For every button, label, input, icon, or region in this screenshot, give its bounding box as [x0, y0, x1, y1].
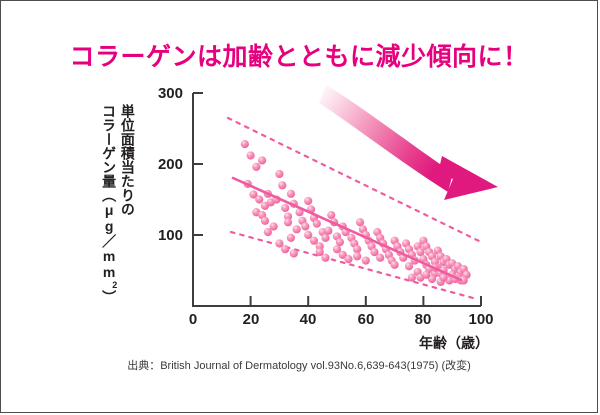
x-tick-40: 40 [285, 312, 331, 327]
scatter-chart [1, 1, 598, 413]
y-axis-label-line2-tail: ） [101, 290, 117, 304]
infographic-frame: コラーゲンは加齢とともに減少傾向に！ [0, 0, 598, 413]
x-tick-0: 0 [170, 312, 216, 327]
x-tick-80: 80 [400, 312, 446, 327]
y-axis-label-line2-text: コラーゲン量（μg／mm [101, 104, 117, 280]
source-citation: 出典：British Journal of Dermatology vol.93… [1, 357, 597, 373]
y-axis-label-line2: コラーゲン量（μg／mm2） [101, 104, 119, 304]
downward-trend-arrow [319, 85, 498, 200]
y-axis-label-superscript: 2 [110, 280, 120, 290]
y-axis-label-line1: 単位面積当たりの [120, 104, 135, 216]
y-tick-300: 300 [123, 86, 183, 101]
x-axis-label: 年齢（歳） [419, 333, 489, 353]
x-tick-20: 20 [228, 312, 274, 327]
x-tick-60: 60 [343, 312, 389, 327]
x-tick-100: 100 [458, 312, 504, 327]
y-axis-label: 単位面積当たりの コラーゲン量（μg／mm2） [101, 104, 135, 304]
